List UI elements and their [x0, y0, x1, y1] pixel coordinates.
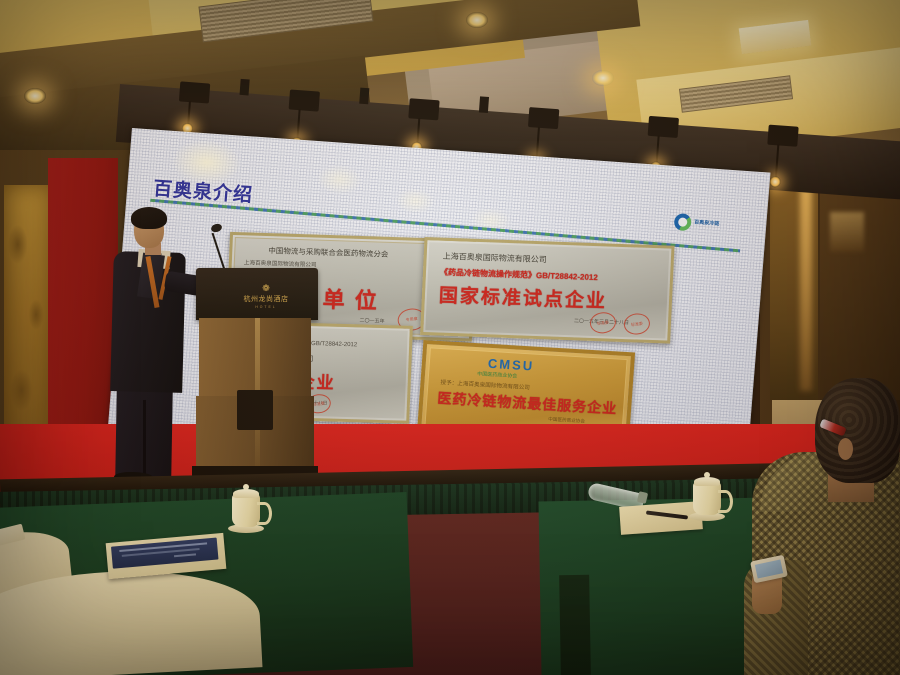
spotlight-hanger [656, 136, 660, 164]
hotel-crest-icon: ❁ [262, 284, 270, 293]
stage-spotlight-icon [769, 176, 781, 188]
truss-clamp [179, 81, 210, 103]
cup-handle [257, 502, 272, 525]
booklet-cover [111, 538, 219, 569]
spotlight-hanger [187, 101, 191, 125]
cup-lid [694, 477, 720, 486]
spotlight-hanger [416, 118, 420, 144]
plaque-national-standard-pilot: 上海百奥泉国际物流有限公司 《药品冷链物流操作规范》GB/T28842-2012… [420, 237, 674, 344]
wall-sconce-glow-icon [830, 212, 864, 252]
podium-hotel-emblem: ❁ 杭州龙尚酒店 HOTEL [238, 281, 294, 311]
cup-lid [233, 489, 259, 498]
corp-logo-mark-icon [674, 213, 692, 231]
truss-clamp [289, 89, 320, 111]
smartphone-screen [755, 559, 783, 578]
hotel-name: 杭州龙尚酒店 [244, 294, 289, 304]
truss-clamp [240, 79, 250, 96]
recessed-downlight-icon [592, 70, 614, 86]
wall-light-strip [800, 186, 812, 391]
attendee-ear [838, 438, 853, 460]
plaque-org-line: 中国物流与采购联合会医药物流分会 [268, 245, 388, 260]
gold-wall-panel [4, 185, 50, 455]
truss-clamp [648, 116, 679, 138]
cup-knob [704, 472, 710, 478]
hotel-name-en: HOTEL [255, 305, 276, 309]
truss-clamp [359, 88, 369, 105]
cup-body [232, 494, 260, 527]
cup-knob [243, 484, 249, 490]
truss-clamp [528, 107, 559, 129]
official-seal-icon: 标准委 [623, 312, 651, 336]
plaque-org-line: 上海百奥泉国际物流有限公司 [442, 251, 546, 266]
cup-body [693, 482, 721, 515]
spotlight-hanger [296, 109, 300, 139]
truss-clamp [767, 125, 798, 147]
speaker-leg-gap [143, 400, 146, 478]
podium-dark-panel [237, 390, 273, 430]
truss-clamp [479, 96, 489, 113]
red-curtain [48, 158, 118, 458]
official-seal-icon: 标准委 [589, 311, 617, 335]
conference-photo-scene: 百奥泉介绍 百奥泉冷链 中国物流与采购联合会医药物流分会 上海百奥泉国际物流有限… [0, 0, 900, 675]
cmsu-logo-subtext: 中国医药商业协会 [477, 370, 517, 379]
recessed-downlight-icon [24, 88, 46, 104]
cup-handle [718, 490, 733, 513]
booklet-text-line [174, 553, 196, 557]
corp-logo-text: 百奥泉冷链 [694, 219, 719, 227]
plaque-headline: 国家标准试点企业 [438, 281, 607, 314]
recessed-downlight-icon [466, 12, 488, 28]
spotlight-hanger [536, 127, 540, 159]
spotlight-hanger [775, 144, 779, 178]
plaque-headline: 医药冷链物流最佳服务企业 [437, 388, 618, 419]
truss-clamp [408, 98, 439, 120]
chair-back [559, 575, 591, 675]
speaker-hair [131, 207, 167, 229]
